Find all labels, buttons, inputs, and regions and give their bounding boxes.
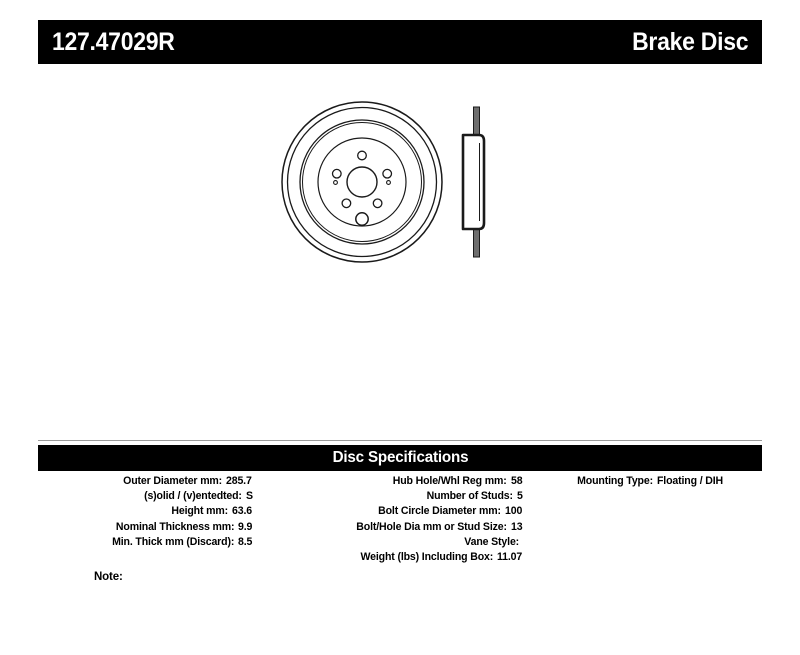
spec-row: Bolt Circle Diameter mm: 100 <box>260 504 523 519</box>
spec-label: Height mm: <box>172 504 229 519</box>
spec-label: (s)olid / (v)entedted: <box>144 489 242 504</box>
spec-label: Bolt Circle Diameter mm: <box>378 504 501 519</box>
spec-value: 9.9 <box>238 520 252 535</box>
spec-row: Hub Hole/Whl Reg mm: 58 <box>260 474 523 489</box>
spec-value: 8.5 <box>238 535 252 550</box>
brake-disc-face-view <box>282 102 442 262</box>
spec-column-left: Outer Diameter mm: 285.7 (s)olid / (v)en… <box>38 474 253 550</box>
specifications-table: Outer Diameter mm: 285.7 (s)olid / (v)en… <box>38 474 762 584</box>
spec-label: Mounting Type: <box>577 474 653 489</box>
spec-value: 63.6 <box>232 504 252 519</box>
spec-label: Weight (lbs) Including Box: <box>360 550 493 565</box>
spec-row: Mounting Type: Floating / DIH <box>538 474 762 489</box>
spec-label: Vane Style: <box>464 535 519 550</box>
spec-value: 58 <box>511 474 522 489</box>
spec-row: Nominal Thickness mm: 9.9 <box>38 520 253 535</box>
section-divider <box>38 440 762 441</box>
spec-value: 285.7 <box>226 474 252 489</box>
spec-value: 100 <box>505 504 522 519</box>
spec-row: Vane Style: <box>260 535 523 550</box>
specs-section-title: Disc Specifications <box>332 449 468 467</box>
spec-label: Bolt/Hole Dia mm or Stud Size: <box>356 520 507 535</box>
spec-row: Outer Diameter mm: 285.7 <box>38 474 253 489</box>
spec-value: Floating / DIH <box>657 474 723 489</box>
spec-value: S <box>246 489 253 504</box>
spec-row: (s)olid / (v)entedted: S <box>38 489 253 504</box>
header-bar: 127.47029R Brake Disc <box>38 20 762 64</box>
spec-row: Min. Thick mm (Discard): 8.5 <box>38 535 253 550</box>
part-number: 127.47029R <box>52 28 175 57</box>
spec-label: Number of Studs: <box>427 489 513 504</box>
spec-row: Bolt/Hole Dia mm or Stud Size: 13 <box>260 520 523 535</box>
spec-value: 11.07 <box>497 550 522 565</box>
brake-disc-edge-view <box>463 107 484 257</box>
spec-column-right: Mounting Type: Floating / DIH <box>538 474 762 489</box>
spec-row: Weight (lbs) Including Box: 11.07 <box>260 550 523 565</box>
note-label: Note: <box>94 571 123 583</box>
spec-label: Hub Hole/Whl Reg mm: <box>393 474 507 489</box>
note-row: Note: <box>94 571 127 583</box>
disc-specifications-bar: Disc Specifications <box>38 445 762 471</box>
spec-value: 13 <box>511 520 522 535</box>
spec-row: Height mm: 63.6 <box>38 504 253 519</box>
product-title: Brake Disc <box>632 28 748 57</box>
spec-column-middle: Hub Hole/Whl Reg mm: 58 Number of Studs:… <box>260 474 523 565</box>
spec-value: 5 <box>517 489 523 504</box>
product-illustration <box>265 96 535 281</box>
spec-label: Nominal Thickness mm: <box>116 520 234 535</box>
spec-label: Outer Diameter mm: <box>123 474 222 489</box>
spec-label: Min. Thick mm (Discard): <box>112 535 234 550</box>
spec-row: Number of Studs: 5 <box>260 489 523 504</box>
